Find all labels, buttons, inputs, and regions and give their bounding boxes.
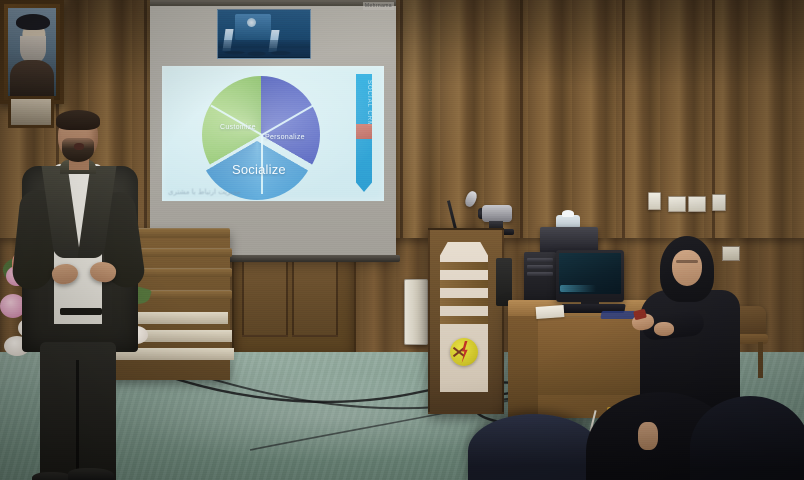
power-outlet[interactable] [668,196,686,212]
presentation-slide: Customize Personalize Socialize SOCIAL C… [162,66,384,201]
audience-face [638,422,658,450]
presenter-beard [62,138,94,162]
portrait-image [8,8,56,96]
pie-label-personalize: Personalize [265,134,305,141]
projection-screen: Mehrnama Customize Personalize Socialize [150,0,396,258]
audience-member [468,414,600,480]
desk-side-panel [508,316,538,418]
av-speaker-box [496,258,512,306]
electric-company-emblem [450,338,478,366]
paper-sheets [536,305,565,319]
conference-photo: Mehrnama Customize Personalize Socialize [0,0,804,480]
ribbon-accent [356,124,372,139]
inset-caption-bar [218,48,310,57]
presenter-shoe [68,468,114,480]
photo-watermark: Mehrnama [363,2,394,10]
wooden-lectern [428,228,504,414]
operator-brow [676,260,698,263]
monitor-glow [560,285,596,292]
robe-shape [10,60,54,96]
seated-operator [636,236,740,418]
framed-portrait [0,0,64,104]
presenter-mouth [74,143,84,150]
pie-chart: Customize Personalize Socialize [202,76,320,194]
trouser-seam [76,360,79,480]
mouse-pad [600,311,635,319]
video-camera [482,205,512,222]
ribbon-text: SOCIAL CRM [356,80,372,127]
turban-shape [16,14,50,30]
screen-top-bar [150,0,396,6]
presenter-hair [56,110,100,130]
presenter-standing [14,112,144,480]
lcd-monitor [556,250,624,302]
slide-farsi-caption: مدیریت ارتباط با مشتری [168,188,240,196]
operator-face [672,250,702,286]
lectern-plaque [440,242,488,392]
pie-label-customize: Customize [220,124,256,131]
pie-label-socialize: Socialize [232,162,286,177]
video-feed-inset [217,9,311,59]
slide-ribbon: SOCIAL CRM [356,74,372,192]
operator-hand [654,322,674,336]
light-switch[interactable] [648,192,661,210]
presenter-belt [60,308,102,315]
light-switch[interactable] [712,194,726,211]
tissue-sheet [562,210,574,217]
power-outlet[interactable] [688,196,706,212]
